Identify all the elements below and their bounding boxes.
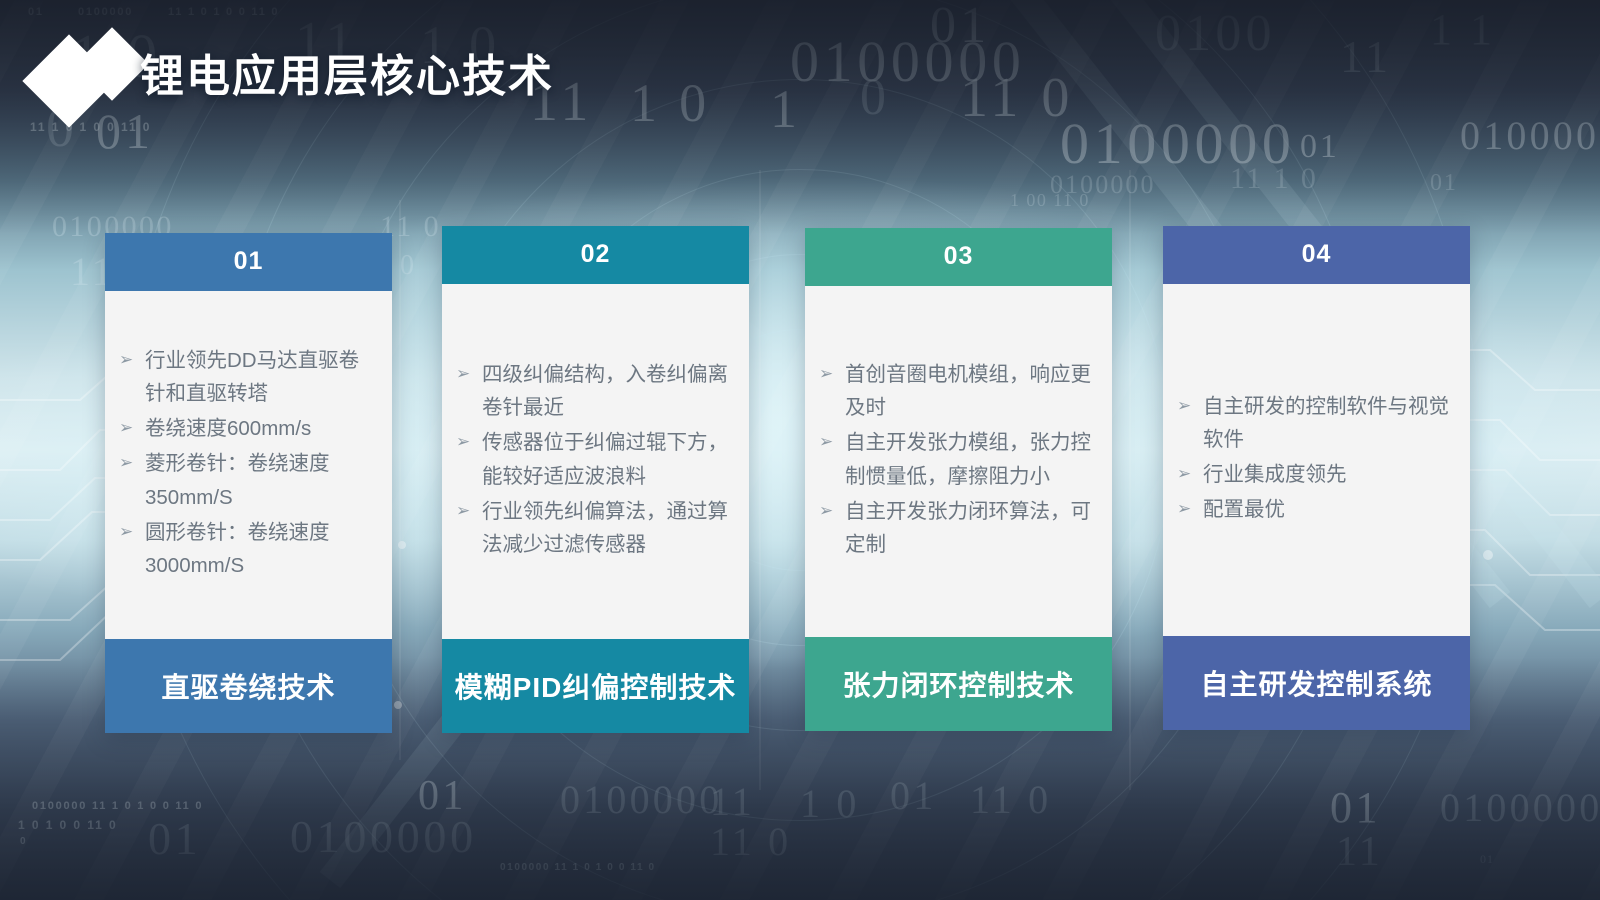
bullet-text: 圆形卷针：卷绕速度3000mm/S bbox=[145, 516, 376, 582]
arrow-bullet-icon: ➢ bbox=[456, 426, 482, 459]
card-body-02: ➢ 四级纠偏结构，入卷纠偏离卷针最近 ➢ 传感器位于纠偏过辊下方，能较好适应波浪… bbox=[442, 284, 749, 639]
technology-card-01[interactable]: 01 ➢ 行业领先DD马达直驱卷针和直驱转塔 ➢ 卷绕速度600mm/s ➢ 菱… bbox=[105, 233, 392, 733]
arrow-bullet-icon: ➢ bbox=[819, 426, 845, 459]
list-item: ➢ 卷绕速度600mm/s bbox=[119, 412, 376, 445]
arrow-bullet-icon: ➢ bbox=[119, 516, 145, 549]
list-item: ➢ 配置最优 bbox=[1177, 493, 1454, 526]
arrow-bullet-icon: ➢ bbox=[456, 358, 482, 391]
arrow-bullet-icon: ➢ bbox=[819, 495, 845, 528]
card-body-01: ➢ 行业领先DD马达直驱卷针和直驱转塔 ➢ 卷绕速度600mm/s ➢ 菱形卷针… bbox=[105, 291, 392, 639]
card-footer-label-04: 自主研发控制系统 bbox=[1163, 636, 1470, 730]
list-item: ➢ 圆形卷针：卷绕速度3000mm/S bbox=[119, 516, 376, 582]
bullet-text: 自主研发的控制软件与视觉软件 bbox=[1203, 390, 1454, 456]
card-number-02: 02 bbox=[442, 226, 749, 284]
list-item: ➢ 行业领先纠偏算法，通过算法减少过滤传感器 bbox=[456, 495, 733, 561]
arrow-bullet-icon: ➢ bbox=[1177, 390, 1203, 423]
arrow-bullet-icon: ➢ bbox=[456, 495, 482, 528]
list-item: ➢ 四级纠偏结构，入卷纠偏离卷针最近 bbox=[456, 358, 733, 424]
bullet-text: 菱形卷针：卷绕速度350mm/S bbox=[145, 447, 376, 513]
card-footer-label-03: 张力闭环控制技术 bbox=[805, 637, 1112, 731]
card-number-01: 01 bbox=[105, 233, 392, 291]
arrow-bullet-icon: ➢ bbox=[119, 344, 145, 377]
list-item: ➢ 首创音圈电机模组，响应更及时 bbox=[819, 358, 1096, 424]
bullet-text: 传感器位于纠偏过辊下方，能较好适应波浪料 bbox=[482, 426, 733, 492]
arrow-bullet-icon: ➢ bbox=[819, 358, 845, 391]
list-item: ➢ 菱形卷针：卷绕速度350mm/S bbox=[119, 447, 376, 513]
card-footer-label-02: 模糊PID纠偏控制技术 bbox=[442, 639, 749, 733]
bullet-text: 自主开发张力模组，张力控制惯量低，摩擦阻力小 bbox=[845, 426, 1096, 492]
card-footer-label-01: 直驱卷绕技术 bbox=[105, 639, 392, 733]
technology-card-03[interactable]: 03 ➢ 首创音圈电机模组，响应更及时 ➢ 自主开发张力模组，张力控制惯量低，摩… bbox=[805, 228, 1112, 731]
card-body-04: ➢ 自主研发的控制软件与视觉软件 ➢ 行业集成度领先 ➢ 配置最优 bbox=[1163, 284, 1470, 636]
bullet-text: 首创音圈电机模组，响应更及时 bbox=[845, 358, 1096, 424]
bullet-text: 卷绕速度600mm/s bbox=[145, 412, 376, 445]
arrow-bullet-icon: ➢ bbox=[1177, 458, 1203, 491]
technology-card-04[interactable]: 04 ➢ 自主研发的控制软件与视觉软件 ➢ 行业集成度领先 ➢ 配置最优 bbox=[1163, 226, 1470, 730]
technology-card-02[interactable]: 02 ➢ 四级纠偏结构，入卷纠偏离卷针最近 ➢ 传感器位于纠偏过辊下方，能较好适… bbox=[442, 226, 749, 733]
card-body-03: ➢ 首创音圈电机模组，响应更及时 ➢ 自主开发张力模组，张力控制惯量低，摩擦阻力… bbox=[805, 286, 1112, 637]
list-item: ➢ 自主研发的控制软件与视觉软件 bbox=[1177, 390, 1454, 456]
card-number-04: 04 bbox=[1163, 226, 1470, 284]
bullet-text: 四级纠偏结构，入卷纠偏离卷针最近 bbox=[482, 358, 733, 424]
bullet-text: 行业领先DD马达直驱卷针和直驱转塔 bbox=[145, 344, 376, 410]
bullet-text: 行业集成度领先 bbox=[1203, 458, 1454, 491]
bullet-text: 自主开发张力闭环算法，可定制 bbox=[845, 495, 1096, 561]
slide-root: 01 0100000 11 1 0 1 0 0 11 0 1 0 0 11 1 … bbox=[0, 0, 1600, 900]
list-item: ➢ 自主开发张力闭环算法，可定制 bbox=[819, 495, 1096, 561]
arrow-bullet-icon: ➢ bbox=[119, 447, 145, 480]
arrow-bullet-icon: ➢ bbox=[1177, 493, 1203, 526]
list-item: ➢ 传感器位于纠偏过辊下方，能较好适应波浪料 bbox=[456, 426, 733, 492]
bullet-text: 配置最优 bbox=[1203, 493, 1454, 526]
bullet-text: 行业领先纠偏算法，通过算法减少过滤传感器 bbox=[482, 495, 733, 561]
list-item: ➢ 行业领先DD马达直驱卷针和直驱转塔 bbox=[119, 344, 376, 410]
list-item: ➢ 自主开发张力模组，张力控制惯量低，摩擦阻力小 bbox=[819, 426, 1096, 492]
card-number-03: 03 bbox=[805, 228, 1112, 286]
list-item: ➢ 行业集成度领先 bbox=[1177, 458, 1454, 491]
arrow-bullet-icon: ➢ bbox=[119, 412, 145, 445]
technology-cards: 01 ➢ 行业领先DD马达直驱卷针和直驱转塔 ➢ 卷绕速度600mm/s ➢ 菱… bbox=[0, 0, 1600, 900]
